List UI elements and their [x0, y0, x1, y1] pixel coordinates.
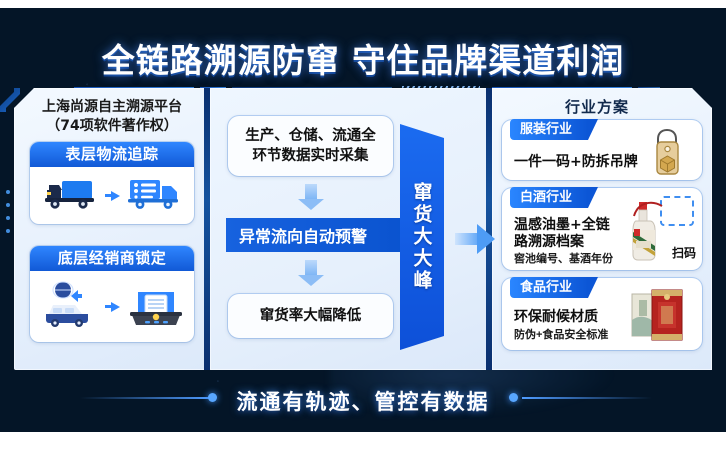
- flow-arrow-icon: [105, 191, 120, 201]
- industry-tag-liquor: 白酒行业: [510, 187, 588, 208]
- left-panel-heading: 上海尚源自主溯源平台 （74项软件著作权）: [22, 98, 202, 136]
- middle-box-collect[interactable]: 生产、仓储、流通全 环节数据实时采集: [228, 116, 393, 176]
- left-panel-heading-line2: （74项软件著作权）: [22, 117, 202, 136]
- hang-tag-icon: [646, 126, 688, 183]
- industry-tag-food: 食品行业: [510, 277, 588, 298]
- footer-dot-right: [509, 393, 518, 402]
- industry-text-food: 环保耐候材质: [514, 306, 598, 326]
- footer-slogan: 流通有轨迹、管控有数据: [0, 386, 726, 416]
- left-card-dealer[interactable]: 底层经销商锁定: [30, 246, 194, 342]
- middle-band-alert[interactable]: 异常流向自动预警: [226, 218, 407, 252]
- footer-line-right: [522, 397, 652, 399]
- left-card-logistics-header: 表层物流追踪: [30, 142, 194, 167]
- vertical-banner-label: 窜货大大峰: [400, 124, 444, 350]
- middle-box-result-label: 窜货率大幅降低: [260, 306, 362, 326]
- top-margin: [0, 0, 726, 8]
- content-board: 上海尚源自主溯源平台 （74项软件著作权） 表层物流追踪: [14, 88, 712, 370]
- industry-text-liquor-line2: 路溯源档案: [514, 231, 584, 251]
- down-arrow-icon-1: [298, 184, 324, 210]
- left-card-dealer-body: [30, 271, 194, 342]
- industry-sub-liquor: 窖池编号、基酒年份: [514, 250, 613, 266]
- poster-root: 全链路溯源防窜 守住品牌渠道利润 上海尚源自主溯源平台 （74项软件著作权） 表…: [0, 0, 726, 450]
- bottom-margin: [0, 432, 726, 450]
- vertical-banner[interactable]: 窜货大大峰: [400, 124, 444, 350]
- left-card-logistics[interactable]: 表层物流追踪: [30, 142, 194, 224]
- food-package-icon: [628, 286, 690, 349]
- industry-card-food[interactable]: 食品行业 环保耐候材质 防伪+食品安全标准: [502, 278, 702, 350]
- industry-sub-food: 防伪+食品安全标准: [514, 326, 608, 342]
- industry-card-liquor[interactable]: 白酒行业 温感油墨+全链 路溯源档案 窖池编号、基酒年份: [502, 188, 702, 270]
- page-title: 全链路溯源防窜 守住品牌渠道利润: [0, 34, 726, 82]
- right-panel: 行业方案 服装行业 一件一码+防拆吊牌 白: [492, 88, 712, 370]
- scan-curve-icon: [632, 198, 666, 220]
- industry-card-apparel[interactable]: 服装行业 一件一码+防拆吊牌: [502, 120, 702, 180]
- middle-box-collect-line1: 生产、仓储、流通全: [245, 126, 376, 146]
- industry-text-apparel: 一件一码+防拆吊牌: [514, 151, 638, 171]
- middle-box-collect-line2: 环节数据实时采集: [245, 146, 376, 166]
- middle-band-alert-label: 异常流向自动预警: [239, 223, 367, 247]
- side-dot-decoration: [6, 190, 10, 260]
- truck-list-icon: [128, 176, 180, 215]
- right-arrow-icon: [455, 224, 495, 254]
- car-network-icon: [41, 280, 97, 333]
- left-card-logistics-body: [30, 167, 194, 224]
- left-panel: 上海尚源自主溯源平台 （74项软件著作权） 表层物流追踪: [14, 88, 210, 370]
- left-card-dealer-header: 底层经销商锁定: [30, 246, 194, 271]
- truck-icon: [45, 176, 97, 215]
- warehouse-icon: [128, 280, 184, 333]
- middle-box-result[interactable]: 窜货率大幅降低: [228, 294, 393, 338]
- right-panel-heading: 行业方案: [492, 96, 702, 117]
- left-panel-heading-line1: 上海尚源自主溯源平台: [22, 98, 202, 117]
- scan-label: 扫码: [672, 244, 696, 261]
- down-arrow-icon-2: [298, 260, 324, 286]
- industry-tag-apparel: 服装行业: [510, 119, 588, 140]
- flow-arrow-icon: [105, 302, 120, 312]
